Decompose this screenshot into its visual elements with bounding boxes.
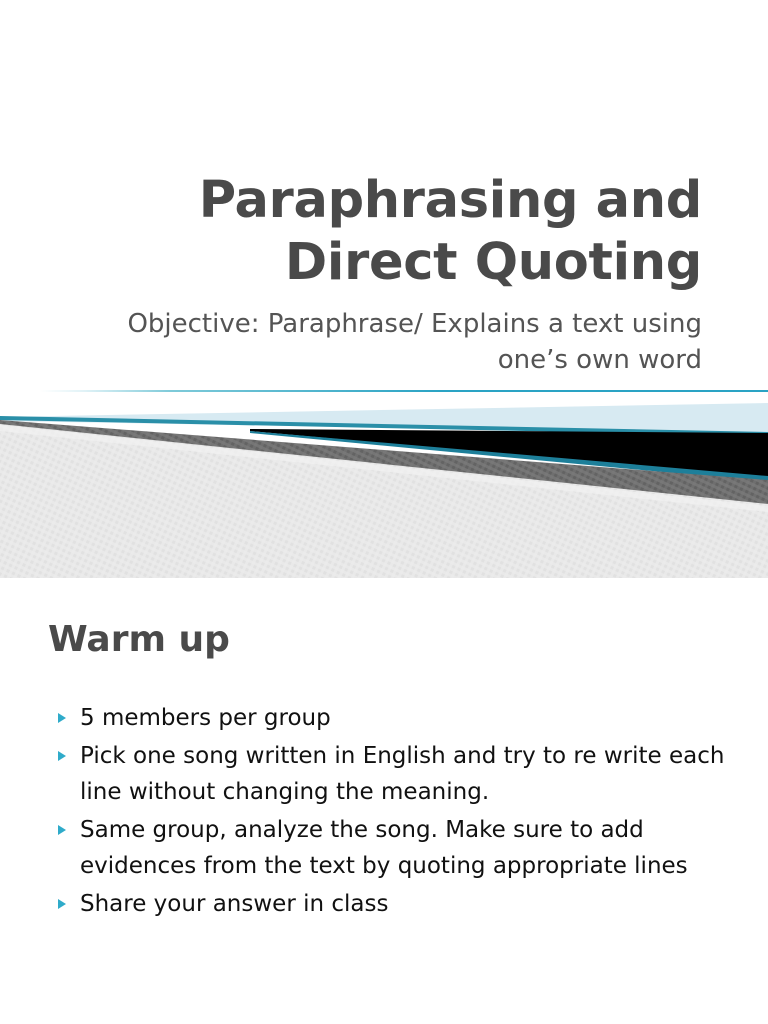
list-item: Same group, analyze the song. Make sure …	[54, 812, 730, 884]
angle-band-graphic	[0, 400, 768, 578]
triangle-bullet-icon	[58, 751, 66, 761]
page-subtitle-line-2: one’s own word	[498, 345, 702, 375]
triangle-bullet-icon	[58, 713, 66, 723]
decorative-angle-band	[0, 400, 768, 578]
list-item-text: Pick one song written in English and try…	[80, 743, 724, 805]
page-title-line-2: Direct Quoting	[285, 233, 702, 292]
list-item-text: Same group, analyze the song. Make sure …	[80, 817, 688, 879]
list-item: 5 members per group	[54, 700, 730, 736]
triangle-bullet-icon	[58, 899, 66, 909]
section-heading: Warm up	[48, 618, 230, 662]
page-subtitle: Objective: Paraphrase/ Explains a text u…	[60, 306, 702, 378]
page-title-line-1: Paraphrasing and	[199, 171, 702, 230]
triangle-bullet-icon	[58, 825, 66, 835]
page-subtitle-line-1: Objective: Paraphrase/ Explains a text u…	[127, 309, 702, 339]
page-title: Paraphrasing and Direct Quoting	[60, 170, 702, 294]
list-item: Pick one song written in English and try…	[54, 738, 730, 810]
title-divider-rule	[40, 390, 768, 392]
list-item: Share your answer in class	[54, 886, 730, 922]
warm-up-bullet-list: 5 members per group Pick one song writte…	[54, 700, 730, 924]
list-item-text: Share your answer in class	[80, 891, 388, 917]
title-block: Paraphrasing and Direct Quoting Objectiv…	[0, 170, 768, 378]
list-item-text: 5 members per group	[80, 705, 331, 731]
